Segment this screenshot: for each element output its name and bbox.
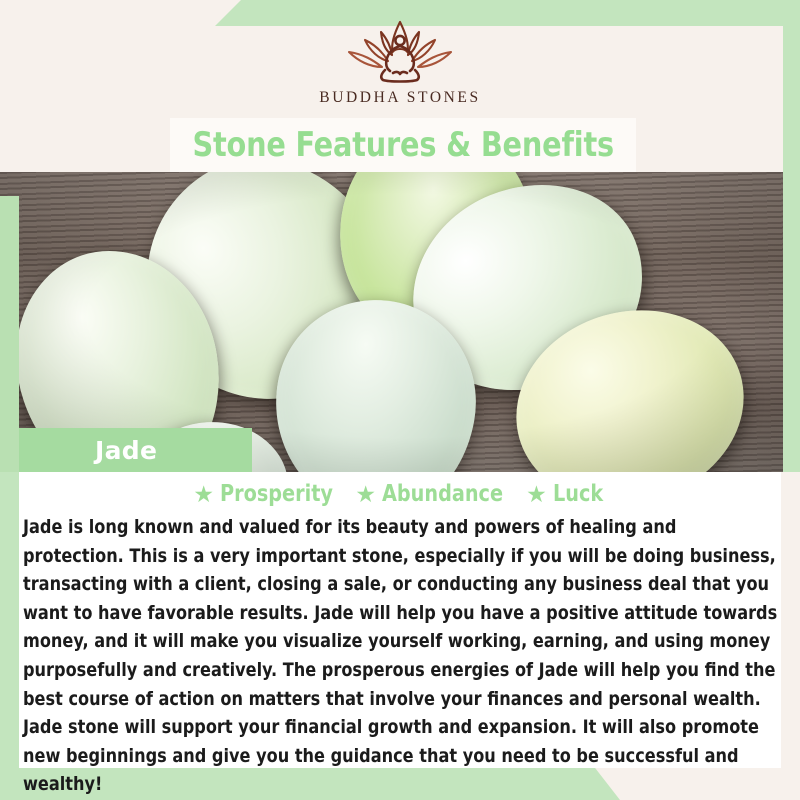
star-icon: ★ — [526, 483, 547, 506]
decorative-left-green-strip — [0, 196, 19, 472]
hero-photo-jade-stones — [0, 172, 800, 472]
title-banner: Stone Features & Benefits — [170, 118, 636, 172]
benefit-item-luck: ★ Luck — [526, 481, 607, 507]
benefit-label: Abundance — [382, 481, 503, 507]
content-panel: ★ Prosperity ★ Abundance ★ Luck Jade is … — [19, 472, 781, 768]
lotus-meditation-icon — [325, 18, 475, 86]
benefit-label: Luck — [553, 481, 603, 507]
decorative-right-green-strip — [783, 0, 800, 472]
benefits-row: ★ Prosperity ★ Abundance ★ Luck — [19, 472, 781, 512]
stone-name: Jade — [95, 436, 157, 465]
brand-logo: BUDDHA STONES — [0, 18, 800, 118]
brand-name: BUDDHA STONES — [319, 89, 480, 107]
poster: BUDDHA STONES Stone Features & Benefits … — [0, 0, 800, 800]
star-icon: ★ — [193, 483, 214, 506]
stone-description: Jade is long known and valued for its be… — [23, 514, 781, 800]
star-icon: ★ — [355, 483, 376, 506]
photo-vignette — [0, 172, 800, 472]
stone-name-label: Jade — [19, 428, 252, 472]
benefit-item-prosperity: ★ Prosperity — [193, 481, 341, 507]
benefit-item-abundance: ★ Abundance — [355, 481, 512, 507]
page-title: Stone Features & Benefits — [192, 125, 613, 165]
benefit-label: Prosperity — [220, 481, 333, 507]
